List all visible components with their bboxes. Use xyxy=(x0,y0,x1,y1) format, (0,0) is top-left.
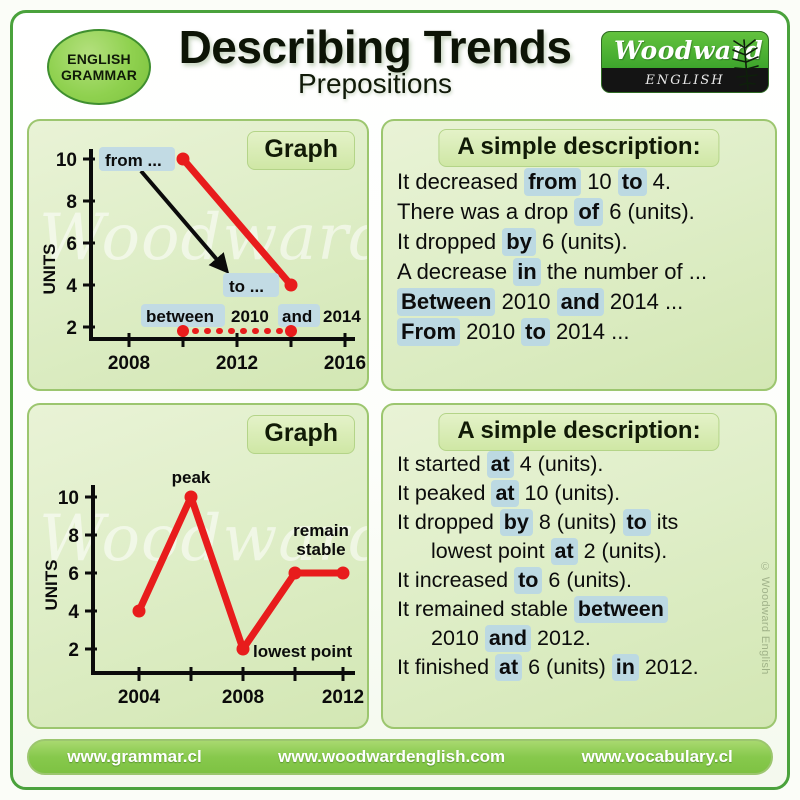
desc2-preposition-7-3: in xyxy=(612,654,639,681)
desc2-text-5-0: It remained stable xyxy=(397,597,574,621)
description-2-body: It started at 4 (units).It peaked at 10 … xyxy=(397,451,763,683)
desc1-text-1-0: There was a drop xyxy=(397,199,574,224)
graph-2-annot-stable: stable xyxy=(296,540,345,559)
graph-2-point-2006 xyxy=(185,491,198,504)
desc2-line-5: It remained stable between xyxy=(397,596,763,624)
desc1-text-0-2: 10 xyxy=(581,169,618,194)
graph-2-point-2004 xyxy=(133,605,146,618)
desc2-preposition-6-1: and xyxy=(485,625,531,652)
graph-2-ylabel: UNITS xyxy=(42,560,61,611)
desc2-text-1-0: It peaked xyxy=(397,481,491,505)
graph-2-xtick-2008: 2008 xyxy=(222,687,264,708)
description-1-heading: A simple description: xyxy=(438,129,719,167)
desc2-text-2-2: 8 (units) xyxy=(533,510,623,534)
graph-2-chart: UNITS 10 8 6 4 2 xyxy=(29,405,367,727)
graph-panel-1: Woodward Graph UNITS xyxy=(27,119,369,391)
graph-1-annot-from: from ... xyxy=(105,151,162,170)
desc1-line-0: It decreased from 10 to 4. xyxy=(397,167,763,196)
header: ENGLISH GRAMMAR Describing Trends Prepos… xyxy=(23,19,777,117)
desc1-line-2: It dropped by 6 (units). xyxy=(397,227,763,256)
fern-leaf-icon xyxy=(718,34,762,92)
desc2-text-2-0: It dropped xyxy=(397,510,500,534)
desc2-text-3-2: 2 (units). xyxy=(578,539,668,563)
desc1-preposition-5-2: to xyxy=(521,318,550,346)
graph-1-trend-line xyxy=(183,159,291,285)
desc2-preposition-2-3: to xyxy=(623,509,651,536)
graph-1-point-start xyxy=(177,153,190,166)
graph-1-annot-to: to ... xyxy=(229,277,264,296)
graph-1-ylabel: UNITS xyxy=(40,244,59,295)
description-panel-1: A simple description: It decreased from … xyxy=(381,119,777,391)
desc2-text-6-0: 2010 xyxy=(431,626,485,650)
desc2-text-4-0: It increased xyxy=(397,568,514,592)
desc2-text-4-2: 6 (units). xyxy=(542,568,632,592)
desc1-text-1-2: 6 (units). xyxy=(603,199,695,224)
desc1-preposition-2-1: by xyxy=(502,228,536,256)
graph-1-point-end xyxy=(285,279,298,292)
desc1-text-0-0: It decreased xyxy=(397,169,524,194)
copyright-watermark: © Woodward English xyxy=(759,561,771,675)
graph-1-annot-and: and xyxy=(282,307,312,326)
desc2-line-3: lowest point at 2 (units). xyxy=(397,538,763,566)
desc1-line-4: Between 2010 and 2014 ... xyxy=(397,287,763,316)
desc2-line-7: It finished at 6 (units) in 2012. xyxy=(397,654,763,682)
desc2-text-1-2: 10 (units). xyxy=(519,481,621,505)
graph-2-point-2010 xyxy=(289,567,302,580)
desc2-preposition-2-1: by xyxy=(500,509,533,536)
graph-2-ytick-10: 10 xyxy=(58,488,79,509)
graph-2-point-2008 xyxy=(237,643,250,656)
desc2-text-0-0: It started xyxy=(397,452,487,476)
graph-1-annot-year-start: 2010 xyxy=(231,307,269,326)
graph-1-annot-year-end: 2014 xyxy=(323,307,361,326)
footer-link-vocab[interactable]: www.vocabulary.cl xyxy=(582,747,733,767)
graph-1-ytick-6: 6 xyxy=(66,234,77,255)
desc1-line-3: A decrease in the number of ... xyxy=(397,257,763,286)
desc2-line-1: It peaked at 10 (units). xyxy=(397,480,763,508)
badge-line-grammar: GRAMMAR xyxy=(61,67,137,83)
graph-1-xtick-2016: 2016 xyxy=(324,353,366,374)
desc1-preposition-1-1: of xyxy=(574,198,603,226)
graph-1-period-end-dot xyxy=(285,325,297,337)
desc1-text-3-2: the number of ... xyxy=(541,259,707,284)
desc2-text-7-2: 6 (units) xyxy=(522,655,612,679)
desc1-preposition-0-1: from xyxy=(524,168,581,196)
desc1-preposition-3-1: in xyxy=(513,258,541,286)
desc1-text-4-1: 2010 xyxy=(495,289,556,314)
desc2-line-0: It started at 4 (units). xyxy=(397,451,763,479)
graph-1-pointer-arrow xyxy=(141,171,225,269)
footer-bar: www.grammar.cl www.woodwardenglish.com w… xyxy=(27,739,773,775)
graph-1-ytick-2: 2 xyxy=(66,318,77,339)
desc2-preposition-0-1: at xyxy=(487,451,514,478)
desc2-text-6-2: 2012. xyxy=(531,626,591,650)
desc2-text-0-2: 4 (units). xyxy=(514,452,604,476)
graph-1-chart: UNITS 10 8 6 4 2 xyxy=(29,121,367,389)
graph-2-ytick-4: 4 xyxy=(68,602,79,623)
title-block: Describing Trends Prepositions xyxy=(163,23,587,100)
graph-1-annot-between: between xyxy=(146,307,214,326)
desc1-line-1: There was a drop of 6 (units). xyxy=(397,197,763,226)
logo-sub-text: ENGLISH xyxy=(645,73,724,88)
graph-2-xtick-2012: 2012 xyxy=(322,687,364,708)
graph-2-annot-peak: peak xyxy=(172,468,211,487)
description-1-body: It decreased from 10 to 4.There was a dr… xyxy=(397,167,763,347)
desc2-line-2: It dropped by 8 (units) to its xyxy=(397,509,763,537)
desc1-text-5-3: 2014 ... xyxy=(550,319,630,344)
outer-frame: ENGLISH GRAMMAR Describing Trends Prepos… xyxy=(10,10,790,790)
graph-2-annot-remain: remain xyxy=(293,521,349,540)
desc1-line-5: From 2010 to 2014 ... xyxy=(397,317,763,346)
infographic-page: ENGLISH GRAMMAR Describing Trends Prepos… xyxy=(0,0,800,800)
desc2-preposition-7-1: at xyxy=(495,654,522,681)
desc1-text-2-2: 6 (units). xyxy=(536,229,628,254)
desc1-text-3-0: A decrease xyxy=(397,259,513,284)
graph-panel-2: Woodward Graph UNITS 10 xyxy=(27,403,369,729)
footer-link-woodward[interactable]: www.woodwardenglish.com xyxy=(278,747,505,767)
desc2-preposition-1-1: at xyxy=(491,480,518,507)
desc2-text-2-4: its xyxy=(651,510,678,534)
desc2-preposition-3-1: at xyxy=(551,538,578,565)
desc2-preposition-5-1: between xyxy=(574,596,668,623)
desc2-line-4: It increased to 6 (units). xyxy=(397,567,763,595)
graph-2-xtick-2004: 2004 xyxy=(118,687,161,708)
graph-2-ytick-8: 8 xyxy=(68,526,79,547)
graph-2-trend-line xyxy=(139,497,343,649)
graph-2-point-2012 xyxy=(337,567,350,580)
page-title: Describing Trends xyxy=(163,23,587,71)
desc1-text-0-4: 4. xyxy=(647,169,671,194)
content-grid: Woodward Graph UNITS xyxy=(23,119,777,729)
badge-line-english: ENGLISH xyxy=(67,51,131,67)
graph-1-ytick-4: 4 xyxy=(66,276,77,297)
graph-2-ytick-6: 6 xyxy=(68,564,79,585)
desc2-text-7-0: It finished xyxy=(397,655,495,679)
desc2-preposition-4-1: to xyxy=(514,567,542,594)
desc1-text-2-0: It dropped xyxy=(397,229,502,254)
graph-1-ytick-10: 10 xyxy=(56,150,77,171)
desc1-text-4-3: 2014 ... xyxy=(604,289,684,314)
desc1-text-5-1: 2010 xyxy=(460,319,521,344)
desc2-line-6: 2010 and 2012. xyxy=(397,625,763,653)
graph-1-ytick-8: 8 xyxy=(66,192,77,213)
desc1-preposition-0-3: to xyxy=(618,168,647,196)
english-grammar-badge: ENGLISH GRAMMAR xyxy=(47,29,151,105)
woodward-english-logo: Woodward ENGLISH xyxy=(601,31,769,93)
graph-2-annot-lowest-point: lowest point xyxy=(253,642,353,661)
description-2-heading: A simple description: xyxy=(438,413,719,451)
logo-top-band: Woodward xyxy=(602,32,768,68)
graph-2-ytick-2: 2 xyxy=(68,640,79,661)
desc1-preposition-5-0: From xyxy=(397,318,460,346)
graph-1-xtick-2008: 2008 xyxy=(108,353,150,374)
page-subtitle: Prepositions xyxy=(163,69,587,100)
desc2-text-7-4: 2012. xyxy=(639,655,699,679)
desc1-preposition-4-2: and xyxy=(557,288,604,316)
desc2-text-3-0: lowest point xyxy=(431,539,551,563)
desc1-preposition-4-0: Between xyxy=(397,288,495,316)
description-panel-2: A simple description: It started at 4 (u… xyxy=(381,403,777,729)
graph-1-period-start-dot xyxy=(177,325,189,337)
graph-1-xtick-2012: 2012 xyxy=(216,353,258,374)
footer-link-grammar[interactable]: www.grammar.cl xyxy=(67,747,201,767)
